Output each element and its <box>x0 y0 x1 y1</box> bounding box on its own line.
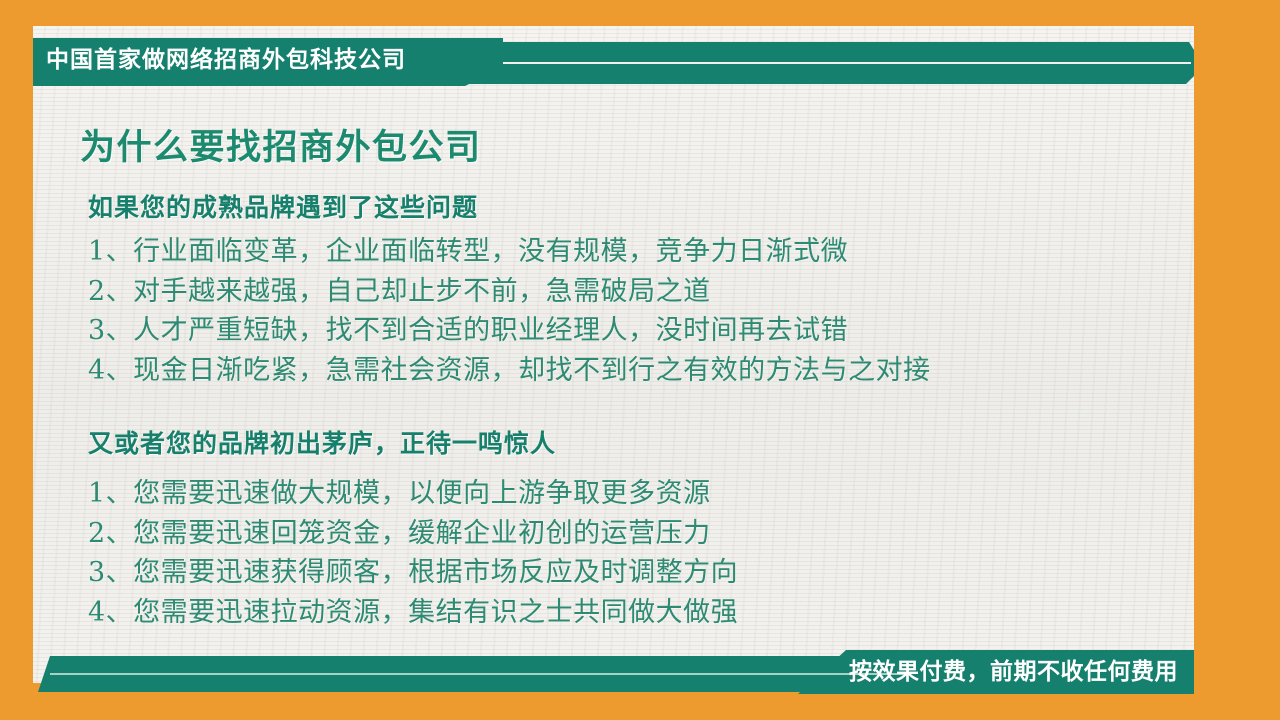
top-banner: 中国首家做网络招商外包科技公司 <box>33 38 1194 86</box>
page-title: 为什么要找招商外包公司 <box>80 119 482 170</box>
bottom-banner-hairline <box>50 673 905 675</box>
slide-canvas: 中国首家做网络招商外包科技公司 为什么要找招商外包公司 如果您的成熟品牌遇到了这… <box>0 0 1280 720</box>
list-item: 2、您需要迅速回笼资金，缓解企业初创的运营压力 <box>88 514 738 554</box>
section-heading-1: 如果您的成熟品牌遇到了这些问题 <box>88 188 478 224</box>
list-item: 1、行业面临变革，企业面临转型，没有规模，竞争力日渐式微 <box>88 232 931 272</box>
list-item: 3、您需要迅速获得顾客，根据市场反应及时调整方向 <box>88 553 738 593</box>
list-item: 4、现金日渐吃紧，急需社会资源，却找不到行之有效的方法与之对接 <box>88 351 931 391</box>
list-item: 4、您需要迅速拉动资源，集结有识之士共同做大做强 <box>88 593 738 633</box>
section-list-2: 1、您需要迅速做大规模，以便向上游争取更多资源 2、您需要迅速回笼资金，缓解企业… <box>88 474 738 632</box>
section-heading-2: 又或者您的品牌初出茅庐，正待一鸣惊人 <box>88 424 556 460</box>
bottom-banner-label: 按效果付费，前期不收任何费用 <box>849 654 1178 690</box>
list-item: 2、对手越来越强，自己却止步不前，急需破局之道 <box>88 272 931 312</box>
list-item: 3、人才严重短缺，找不到合适的职业经理人，没时间再去试错 <box>88 311 931 351</box>
section-list-1: 1、行业面临变革，企业面临转型，没有规模，竞争力日渐式微 2、对手越来越强，自己… <box>88 232 931 390</box>
bottom-banner: 按效果付费，前期不收任何费用 <box>38 650 1194 694</box>
list-item: 1、您需要迅速做大规模，以便向上游争取更多资源 <box>88 474 738 514</box>
top-banner-label: 中国首家做网络招商外包科技公司 <box>46 40 406 80</box>
